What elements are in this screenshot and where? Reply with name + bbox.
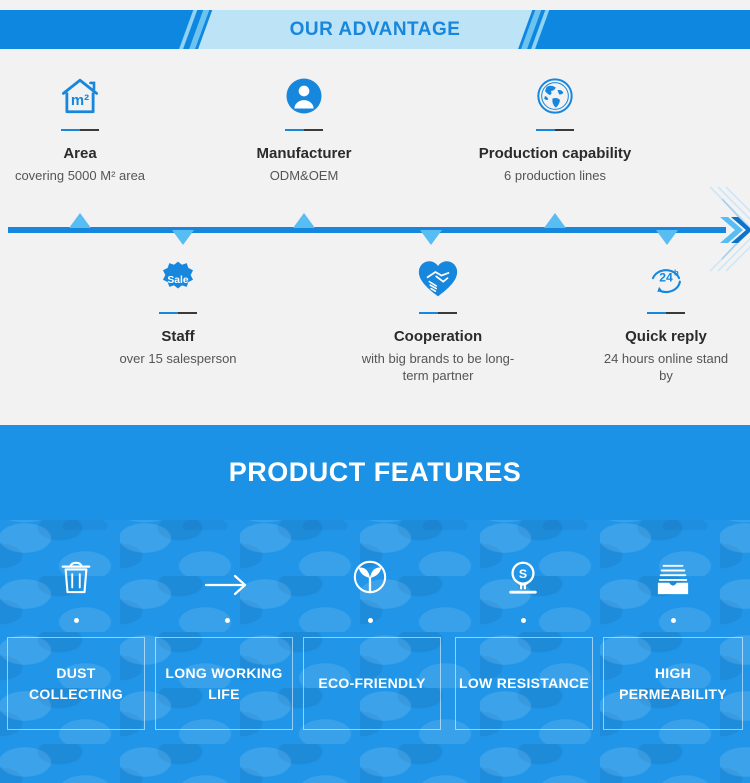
svg-text:Sale: Sale xyxy=(167,275,188,286)
layered-tray-icon xyxy=(613,550,733,596)
advantage-item-desc: ODM&OEM xyxy=(224,167,384,184)
twentyfour-hours-icon: 24 h xyxy=(586,255,746,303)
advantage-item-desc: over 15 salesperson xyxy=(98,350,258,367)
feature-icon-col-eco-friendly xyxy=(310,550,430,623)
advantage-item-desc: 24 hours online stand by xyxy=(601,350,731,384)
timeline-marker-up-production xyxy=(544,213,566,228)
right-arrow-icon xyxy=(167,550,287,596)
feature-box-label: LOW RESISTANCE xyxy=(459,673,589,694)
advantage-item-title: Manufacturer xyxy=(224,145,384,162)
advantage-item-title: Staff xyxy=(98,328,258,345)
feature-icon-col-long-working-life xyxy=(167,550,287,623)
item-divider xyxy=(285,129,323,131)
advantage-item-desc: 6 production lines xyxy=(475,167,635,184)
advantage-section: OUR ADVANTAGE m² Area covering 5000 M² a… xyxy=(0,0,750,425)
timeline-marker-down-cooperation xyxy=(420,230,442,245)
svg-text:24: 24 xyxy=(659,271,673,285)
timeline-marker-down-quick-reply xyxy=(656,230,678,245)
item-divider xyxy=(419,312,457,314)
feature-box-high-permeability[interactable]: HIGH PERMEABILITY xyxy=(603,637,743,730)
handshake-heart-icon xyxy=(358,255,518,303)
feature-dot xyxy=(225,618,230,623)
advantage-item-desc: covering 5000 M² area xyxy=(0,167,160,184)
advantage-item-title: Area xyxy=(0,145,160,162)
advantage-banner-title: OUR ADVANTAGE xyxy=(0,10,750,49)
timeline-arrow-head xyxy=(718,213,750,247)
advantage-item-area: m² Area covering 5000 M² area xyxy=(0,72,160,184)
svg-text:h: h xyxy=(674,269,679,278)
advantage-item-quick-reply: 24 h Quick reply 24 hours online stand b… xyxy=(586,255,746,384)
feature-box-dust-collecting[interactable]: DUST COLLECTING xyxy=(7,637,145,730)
svg-text:m²: m² xyxy=(71,93,89,109)
feature-box-label: DUST COLLECTING xyxy=(8,663,144,705)
feature-icon-col-dust-collecting xyxy=(16,550,136,623)
feature-box-label: LONG WORKING LIFE xyxy=(156,663,292,705)
advantage-item-title: Quick reply xyxy=(586,328,746,345)
feature-box-long-working-life[interactable]: LONG WORKING LIFE xyxy=(155,637,293,730)
advantage-item-desc: with big brands to be long-term partner xyxy=(353,350,523,384)
advantage-item-title: Production capability xyxy=(475,145,635,162)
item-divider xyxy=(61,129,99,131)
house-area-icon: m² xyxy=(0,72,160,120)
feature-dot xyxy=(74,618,79,623)
product-features-section: PRODUCT FEATURES xyxy=(0,425,750,783)
advantage-item-title: Cooperation xyxy=(358,328,518,345)
feature-box-label: HIGH PERMEABILITY xyxy=(604,663,742,705)
feature-dot xyxy=(368,618,373,623)
feature-box-label: ECO-FRIENDLY xyxy=(318,673,425,694)
bulb-dollar-icon: S xyxy=(463,550,583,596)
features-title: PRODUCT FEATURES xyxy=(229,457,522,488)
feature-box-eco-friendly[interactable]: ECO-FRIENDLY xyxy=(303,637,441,730)
feature-dot xyxy=(521,618,526,623)
feature-box-low-resistance[interactable]: LOW RESISTANCE xyxy=(455,637,593,730)
advantage-banner: OUR ADVANTAGE xyxy=(0,10,750,49)
features-header: PRODUCT FEATURES xyxy=(0,425,750,520)
timeline-marker-down-staff xyxy=(172,230,194,245)
feature-icon-col-high-permeability xyxy=(613,550,733,623)
advantage-item-cooperation: Cooperation with big brands to be long-t… xyxy=(358,255,518,384)
trash-bin-icon xyxy=(16,550,136,596)
advantage-item-manufacturer: Manufacturer ODM&OEM xyxy=(224,72,384,184)
person-manufacturer-icon xyxy=(224,72,384,120)
advantage-item-production-capability: Production capability 6 production lines xyxy=(475,72,635,184)
timeline-marker-up-manufacturer xyxy=(293,213,315,228)
feature-dot xyxy=(671,618,676,623)
sale-badge-icon: Sale xyxy=(98,255,258,303)
timeline-axis xyxy=(8,227,726,233)
item-divider xyxy=(159,312,197,314)
item-divider xyxy=(536,129,574,131)
feature-icon-col-low-resistance: S xyxy=(463,550,583,623)
svg-text:S: S xyxy=(519,567,527,581)
advantage-item-staff: Sale Staff over 15 salesperson xyxy=(98,255,258,367)
timeline-marker-up-area xyxy=(69,213,91,228)
item-divider xyxy=(647,312,685,314)
globe-production-icon xyxy=(475,72,635,120)
eco-leaf-icon xyxy=(310,550,430,596)
